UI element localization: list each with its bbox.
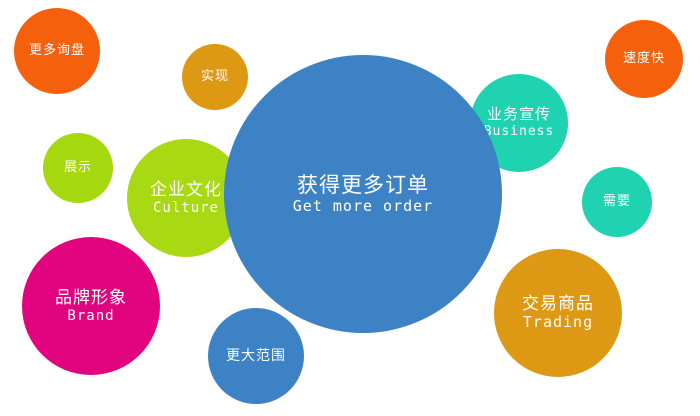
bubble-label-cn: 展示 [64,160,92,175]
bubble-brand[interactable]: 品牌形象Brand [22,237,160,375]
bubble-label-cn: 更大范围 [226,348,286,365]
bubble-bigger-scope[interactable]: 更大范围 [208,308,304,404]
bubble-label-en: Culture [153,200,219,217]
bubble-label-cn: 交易商品 [522,294,594,314]
bubble-label-cn: 业务宣传 [487,106,551,124]
bubble-label-cn: 实现 [201,69,229,84]
bubble-diagram: 更多询盘实现展示速度快需要企业文化Culture品牌形象Brand业务宣传Bus… [0,0,700,416]
bubble-label-cn: 速度快 [623,51,665,66]
bubble-label-en: Get more order [293,198,433,216]
bubble-realize[interactable]: 实现 [182,44,248,110]
bubble-label-cn: 更多询盘 [29,43,85,58]
bubble-label-cn: 品牌形象 [55,288,127,308]
bubble-label-cn: 企业文化 [150,180,222,200]
bubble-label-en: Trading [523,314,593,332]
bubble-trading[interactable]: 交易商品Trading [494,249,622,377]
bubble-display[interactable]: 展示 [43,133,113,203]
bubble-label-cn: 需要 [603,194,631,209]
bubble-label-en: Brand [67,308,114,325]
bubble-get-more-order[interactable]: 获得更多订单Get more order [224,55,502,333]
bubble-label-cn: 获得更多订单 [297,173,429,198]
bubble-need[interactable]: 需要 [582,167,652,237]
bubble-label-en: Business [484,124,555,139]
bubble-more-inquiry[interactable]: 更多询盘 [14,8,100,94]
bubble-fast-speed[interactable]: 速度快 [605,20,683,98]
